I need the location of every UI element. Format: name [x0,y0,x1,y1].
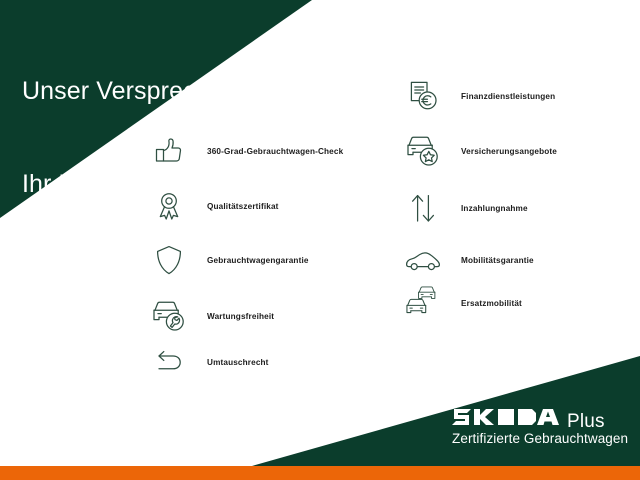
skoda-wordmark: ŠKODA [452,407,560,427]
feature-item-exchange-right: Umtauschrecht [146,339,269,385]
feature-label: 360-Grad-Gebrauchtwagen-Check [207,147,343,156]
car-star-icon [400,128,446,174]
car-silhouette-icon [400,237,446,283]
promo-banner: Unser Versprechen. Ihr Plus. 360-Grad-Ge… [0,0,640,480]
two-cars-icon [400,280,446,326]
car-wrench-icon [146,293,192,339]
return-arrow-icon [146,339,192,385]
feature-item-360-check: 360-Grad-Gebrauchtwagen-Check [146,128,343,174]
document-euro-icon [400,73,446,119]
orange-accent-bar [0,466,640,480]
feature-item-replacement-mobility: Ersatzmobilität [400,280,522,326]
feature-item-trade-in: Inzahlungnahme [400,185,528,231]
brand-top-line: ŠKODA Plus [452,407,632,429]
feature-label: Gebrauchtwagengarantie [207,256,309,265]
feature-label: Finanzdienstleistungen [461,92,555,101]
feature-label: Wartungsfreiheit [207,312,274,321]
brand-lockup: ŠKODA Plus Zertifizierte Gebrauchtwagen [452,407,632,446]
feature-item-quality-certificate: Qualitätszertifikat [146,183,279,229]
feature-label: Ersatzmobilität [461,299,522,308]
feature-label: Umtauschrecht [207,358,269,367]
shield-icon [146,237,192,283]
headline-line-1: Unser Versprechen. [22,76,245,107]
feature-label: Versicherungsangebote [461,147,557,156]
award-rosette-icon [146,183,192,229]
feature-item-maintenance-free: Wartungsfreiheit [146,293,274,339]
brand-plus-label: Plus [567,412,605,431]
feature-item-used-car-warranty: Gebrauchtwagengarantie [146,237,309,283]
brand-subtitle: Zertifizierte Gebrauchtwagen [452,431,632,446]
up-down-arrows-icon [400,185,446,231]
feature-item-mobility-guarantee: Mobilitätsgarantie [400,237,534,283]
feature-label: Mobilitätsgarantie [461,256,534,265]
feature-item-insurance-offers: Versicherungsangebote [400,128,557,174]
feature-label: Inzahlungnahme [461,204,528,213]
feature-item-financial-services: Finanzdienstleistungen [400,73,555,119]
feature-label: Qualitätszertifikat [207,202,279,211]
thumbs-up-icon [146,128,192,174]
